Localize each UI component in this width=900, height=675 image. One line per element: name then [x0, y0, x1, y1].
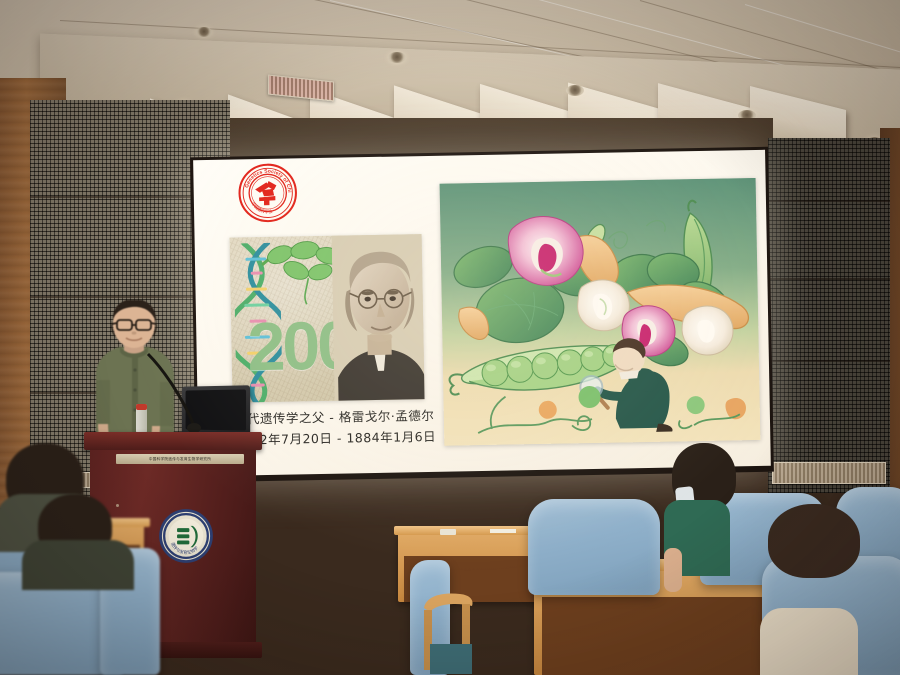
slide-caption-line-1: 现代遗传学之父 - 格雷戈尔·孟德尔: [234, 405, 435, 428]
audience-chair: [528, 499, 660, 595]
genetics-society-of-china-seal-icon: Genetics Society of China 中国遗传学会: [237, 162, 298, 223]
podium-indicator-light: [116, 504, 119, 507]
university-emblem-icon: 遗传与发育生物学: [158, 508, 214, 564]
ceiling-downlight: [196, 27, 212, 37]
microphone: [144, 352, 208, 436]
audience-member-arm: [664, 548, 682, 592]
ceiling-downlight: [566, 85, 584, 96]
audience-member-head: [768, 504, 860, 578]
projection-screen-frame: Genetics Society of China 中国遗传学会: [190, 147, 774, 483]
ceiling-downlight: [388, 52, 406, 63]
water-bottle[interactable]: [136, 404, 147, 434]
projection-screen: Genetics Society of China 中国遗传学会: [193, 150, 771, 476]
chair-armrest: [416, 588, 486, 675]
wall-air-vent: [772, 462, 886, 484]
mendel-pea-illustration: [440, 178, 761, 446]
mendel-200-anniversary-panel: 200: [230, 234, 425, 402]
audience-member-body: [22, 540, 134, 590]
desk-item: [440, 529, 456, 535]
audience-member-body: [760, 608, 858, 675]
acoustic-panel-right: [768, 138, 890, 493]
podium-top: [84, 432, 262, 450]
desk-paper: [490, 529, 516, 533]
lecture-hall-scene: Genetics Society of China 中国遗传学会: [0, 0, 900, 675]
podium-nameplate: 中国科学院遗传与发育生物学研究所: [116, 454, 244, 464]
slide-caption-line-2: 1822年7月20日 - 1884年1月6日: [234, 426, 436, 449]
mendel-portrait: [331, 234, 424, 402]
